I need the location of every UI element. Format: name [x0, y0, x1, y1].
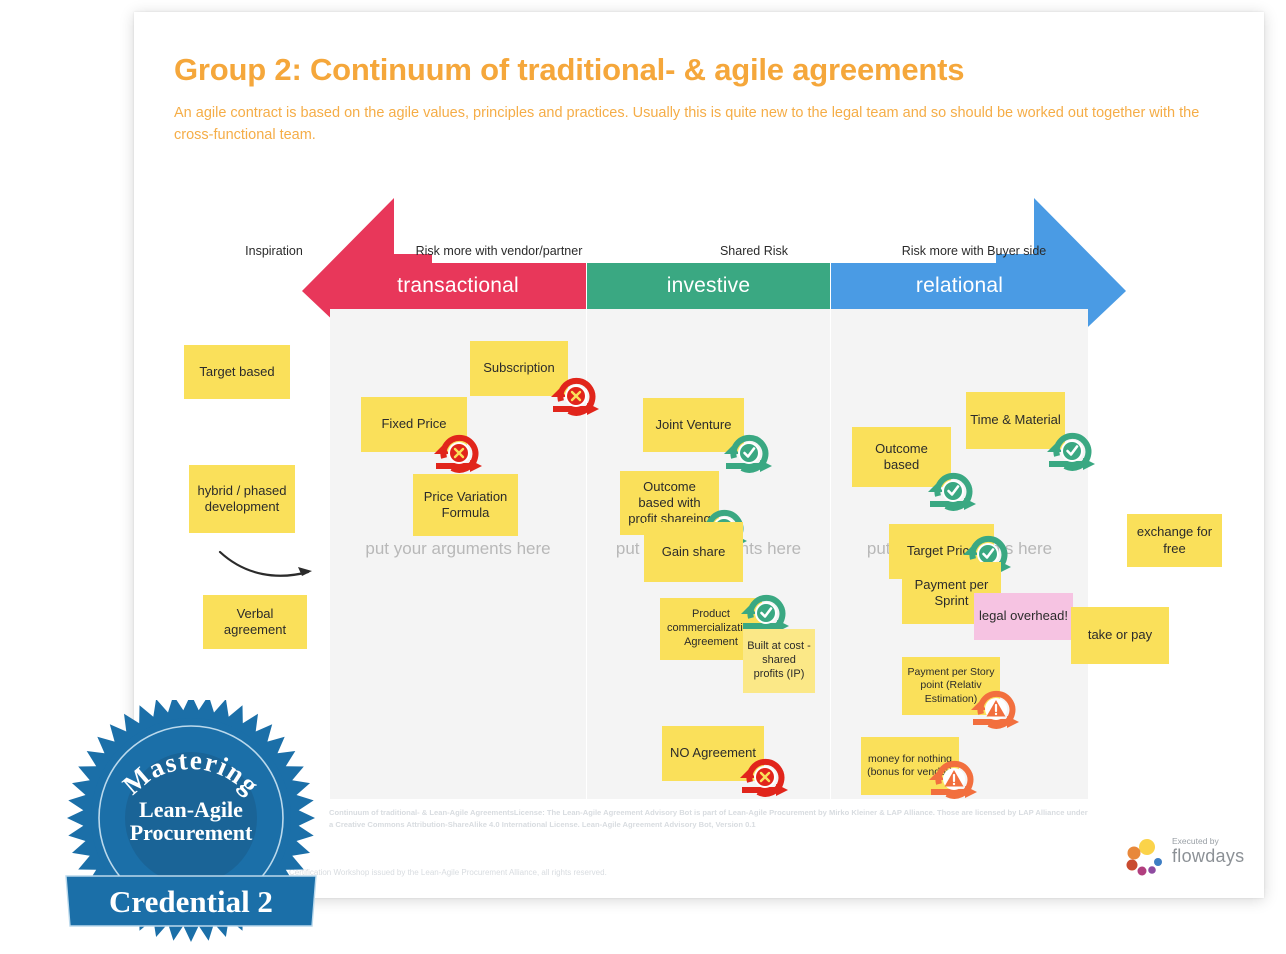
footer-rights-text: Certification Workshop issued by the Lea…	[289, 868, 909, 877]
flowdays-wordmark: flowdays	[1172, 846, 1244, 867]
svg-text:Credential 2: Credential 2	[109, 884, 273, 919]
note-inspiration-target-based[interactable]: Target based	[184, 345, 290, 399]
note-fixed-price[interactable]: Fixed Price	[361, 397, 467, 452]
note-no-agreement[interactable]: NO Agreement	[662, 726, 764, 781]
svg-text:Lean-Agile: Lean-Agile	[139, 797, 243, 822]
note-joint-venture[interactable]: Joint Venture	[643, 398, 744, 452]
flowdays-dots-icon	[1124, 838, 1168, 878]
note-payment-per-story-point[interactable]: Payment per Story point (Relativ Estimat…	[902, 657, 1000, 715]
note-outcome-based[interactable]: Outcome based	[852, 427, 951, 487]
credential-badge: Mastering Lean-Agile Procurement Credent…	[62, 700, 320, 948]
note-money-for-nothing[interactable]: money for nothing (bonus for vendor)	[861, 737, 959, 795]
placeholder-transactional: put your arguments here	[330, 539, 586, 559]
note-built-at-cost-shared-profits[interactable]: Built at cost - shared profits (IP)	[743, 629, 815, 693]
risk-label-relational: Risk more with Buyer side	[764, 244, 1184, 258]
inspiration-label: Inspiration	[204, 244, 344, 258]
note-take-or-pay[interactable]: take or pay	[1071, 607, 1169, 664]
note-inspiration-verbal-agreement[interactable]: Verbal agreement	[203, 595, 307, 649]
note-price-variation-formula[interactable]: Price Variation Formula	[413, 474, 518, 536]
band-investive[interactable]: investive	[587, 263, 830, 309]
note-subscription[interactable]: Subscription	[470, 341, 568, 396]
flowdays-executed-by-label: Executed by	[1172, 836, 1219, 846]
flowdays-logo: Executed by flowdays	[1124, 832, 1274, 882]
screenshot-canvas: Group 2: Continuum of traditional- & agi…	[0, 0, 1286, 954]
band-transactional[interactable]: transactional	[330, 263, 586, 309]
footer-legal-text: Continuum of traditional- & Lean-Agile A…	[329, 807, 1089, 831]
svg-text:Procurement: Procurement	[130, 820, 253, 845]
note-gain-share[interactable]: Gain share	[644, 522, 743, 582]
note-time-and-material[interactable]: Time & Material	[966, 392, 1065, 449]
band-relational[interactable]: relational	[831, 263, 1088, 309]
hand-drawn-arrow-icon	[216, 542, 326, 584]
note-inspiration-hybrid-phased[interactable]: hybrid / phased development	[189, 465, 295, 533]
note-exchange-for-free[interactable]: exchange for free	[1127, 514, 1222, 567]
credential-badge-graphic: Mastering Lean-Agile Procurement Credent…	[62, 700, 320, 948]
note-legal-overhead[interactable]: legal overhead!	[974, 593, 1073, 640]
